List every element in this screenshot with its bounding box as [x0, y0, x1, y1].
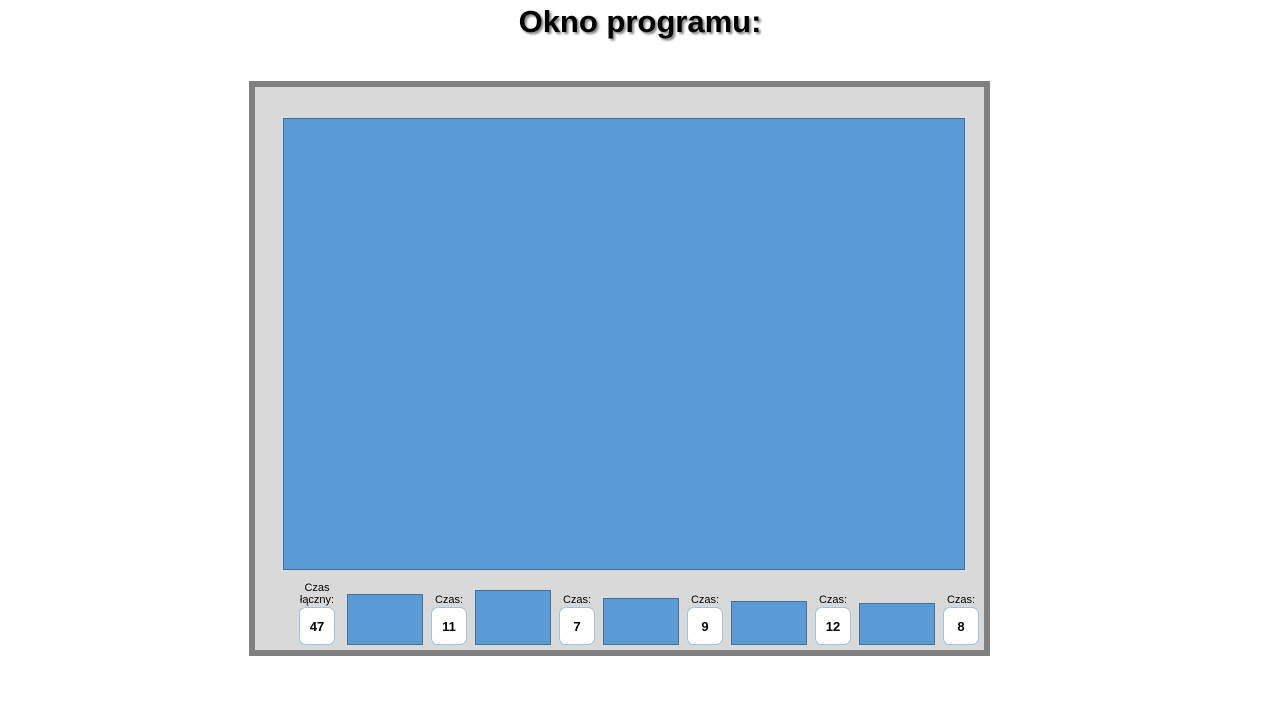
drawing-canvas[interactable]: [283, 118, 965, 570]
time-readout: Czas:7: [557, 594, 597, 645]
page-title: Okno programu:: [0, 4, 1280, 40]
total-time-label: Czas łączny:: [300, 582, 334, 606]
time-readout-value: 8: [943, 607, 979, 645]
activity-bar[interactable]: [603, 598, 679, 645]
status-bar: Czas łączny: 47 Czas:11Czas:7Czas:9Czas:…: [255, 574, 984, 654]
time-readout-value: 11: [431, 607, 467, 645]
activity-bar[interactable]: [731, 601, 807, 645]
total-time-readout: Czas łączny: 47: [295, 582, 339, 645]
time-readout-value: 12: [815, 607, 851, 645]
activity-bar[interactable]: [859, 603, 935, 645]
total-time-value: 47: [299, 607, 335, 645]
time-readout-label: Czas:: [691, 594, 719, 606]
time-readout: Czas:8: [941, 594, 981, 645]
time-readout: Czas:12: [813, 594, 853, 645]
program-window-inner: Czas łączny: 47 Czas:11Czas:7Czas:9Czas:…: [255, 87, 984, 650]
time-readout-label: Czas:: [947, 594, 975, 606]
time-readout: Czas:11: [429, 594, 469, 645]
page-root: Okno programu: Czas łączny: 47 Czas:11Cz…: [0, 0, 1280, 720]
time-readout-label: Czas:: [819, 594, 847, 606]
activity-bar[interactable]: [347, 594, 423, 645]
time-readout-value: 7: [559, 607, 595, 645]
activity-bar[interactable]: [475, 590, 551, 645]
time-readout-group: Czas łączny: 47 Czas:11Czas:7Czas:9Czas:…: [295, 573, 987, 645]
time-readout: Czas:9: [685, 594, 725, 645]
time-readout-label: Czas:: [563, 594, 591, 606]
time-readout-label: Czas:: [435, 594, 463, 606]
program-window: Czas łączny: 47 Czas:11Czas:7Czas:9Czas:…: [249, 81, 990, 656]
time-readout-value: 9: [687, 607, 723, 645]
